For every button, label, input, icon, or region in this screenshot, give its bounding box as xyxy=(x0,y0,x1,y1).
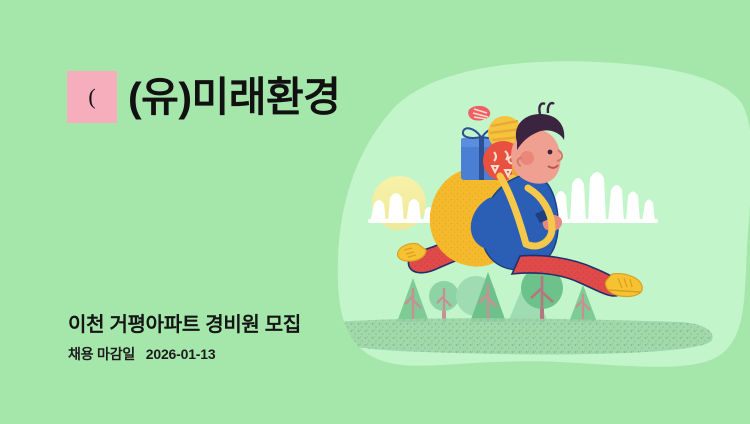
ground-strip xyxy=(336,318,713,354)
deadline-date: 2026-01-13 xyxy=(146,346,216,362)
job-headline: 이천 거평아파트 경비원 모집 xyxy=(68,308,301,337)
runner-cheek xyxy=(520,151,534,165)
job-poster: ( (유)미래환경 이천 거평아파트 경비원 모집 채용 마감일 2026-01… xyxy=(0,0,750,424)
company-name: (유)미래환경 xyxy=(128,77,340,118)
runner-eye xyxy=(548,150,553,155)
deadline-label: 채용 마감일 xyxy=(68,346,135,362)
brand-mark-icon: ( xyxy=(67,71,117,123)
job-deadline: 채용 마감일 2026-01-13 xyxy=(68,344,215,364)
brand-mark-glyph: ( xyxy=(88,86,95,108)
brand-row: ( (유)미래환경 xyxy=(67,70,340,124)
